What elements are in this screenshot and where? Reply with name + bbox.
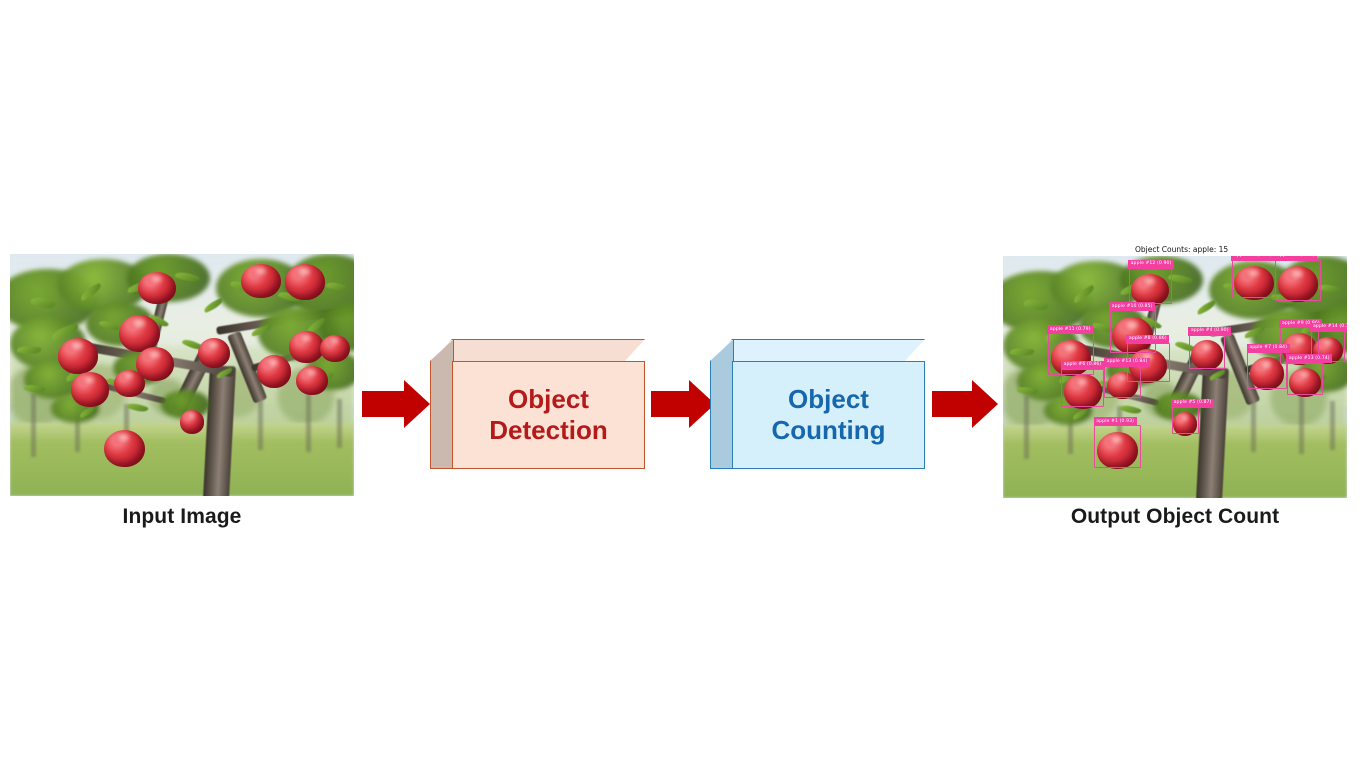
detection-box: apple #7 (0.84) [1247, 352, 1287, 390]
detection-label: apple #13 (0.74) [1286, 354, 1332, 363]
detection-box: apple #2 (0.92) [1275, 260, 1321, 301]
apple-fruit [71, 372, 109, 406]
detection-box: apple #13 (0.84) [1104, 366, 1140, 397]
apple-fruit [180, 410, 204, 433]
box-side-face [710, 339, 734, 469]
box-top-face [710, 339, 925, 363]
detection-box: apple #13 (0.74) [1287, 362, 1323, 395]
output-image-caption: Output Object Count [1003, 505, 1347, 529]
detection-box: apple #6 (0.86) [1061, 369, 1104, 408]
detection-label: apple #7 (0.84) [1247, 344, 1290, 353]
detection-label-line1: Object [489, 384, 607, 415]
detection-label: apple #5 (0.87) [1171, 399, 1214, 408]
detection-label: apple #14 (0.71) [1310, 323, 1347, 332]
box-side-face [430, 339, 454, 469]
box-top-face [430, 339, 645, 363]
arrow-head [404, 380, 430, 428]
detection-label-line2: Detection [489, 415, 607, 446]
counting-label-line2: Counting [771, 415, 885, 446]
apple-fruit [114, 370, 146, 398]
detection-label: apple #6 (0.86) [1061, 361, 1104, 370]
object-counting-box[interactable]: Object Counting [710, 339, 925, 469]
detections-overlay: apple #12 (0.90)apple #3 (0.91)apple #2 … [1003, 256, 1347, 498]
apple-fruit [198, 338, 230, 368]
detection-box: apple #12 (0.90) [1129, 268, 1172, 304]
detection-label: apple #12 (0.90) [1128, 260, 1174, 269]
arrow-head [972, 380, 998, 428]
arrow-shaft [651, 391, 691, 417]
background-trunk [31, 394, 36, 457]
detection-label: apple #3 (0.91) [1231, 256, 1274, 261]
object-counting-label: Object Counting [771, 384, 885, 445]
output-image-photo: apple #12 (0.90)apple #3 (0.91)apple #2 … [1003, 256, 1347, 498]
arrow-shaft [932, 391, 974, 417]
arrow-input-to-detection [362, 380, 430, 428]
detection-label: apple #10 (0.85) [1109, 302, 1155, 311]
object-detection-label: Object Detection [489, 384, 607, 445]
detection-label: apple #11 (0.79) [1047, 325, 1093, 334]
detection-label: apple #1 (0.93) [1094, 417, 1137, 426]
counting-label-line1: Object [771, 384, 885, 415]
detection-box: apple #1 (0.93) [1094, 425, 1140, 467]
apple-fruit [285, 264, 326, 300]
apple-fruit [138, 272, 176, 304]
detection-box: apple #3 (0.91) [1232, 260, 1277, 299]
background-trunk [258, 397, 263, 450]
detection-label: apple #4 (0.90) [1188, 327, 1231, 336]
apple-fruit [241, 264, 280, 298]
arrow-detection-to-counting [651, 380, 719, 428]
object-counts-text: Object Counts: apple: 15 [1135, 245, 1228, 254]
detection-label: apple #2 (0.92) [1274, 256, 1317, 261]
apple-fruit [58, 338, 99, 374]
detection-label: apple #13 (0.84) [1104, 358, 1150, 367]
background-trunk [337, 399, 342, 447]
grass-ground-layer [10, 423, 354, 496]
apple-fruit [296, 366, 328, 395]
box-front-face: Object Counting [732, 361, 925, 469]
apple-fruit [289, 331, 324, 363]
detection-box: apple #4 (0.90) [1189, 335, 1225, 369]
detection-box: apple #5 (0.87) [1172, 407, 1200, 434]
background-trunk [306, 394, 311, 452]
arrow-counting-to-output [932, 380, 1000, 428]
apple-fruit [320, 335, 350, 363]
detection-label: apple #8 (0.86) [1126, 335, 1169, 344]
input-image-photo [10, 254, 354, 496]
input-image-caption: Input Image [10, 505, 354, 529]
apple-fruit [104, 430, 145, 467]
object-detection-box[interactable]: Object Detection [430, 339, 645, 469]
arrow-shaft [362, 391, 406, 417]
box-front-face: Object Detection [452, 361, 645, 469]
